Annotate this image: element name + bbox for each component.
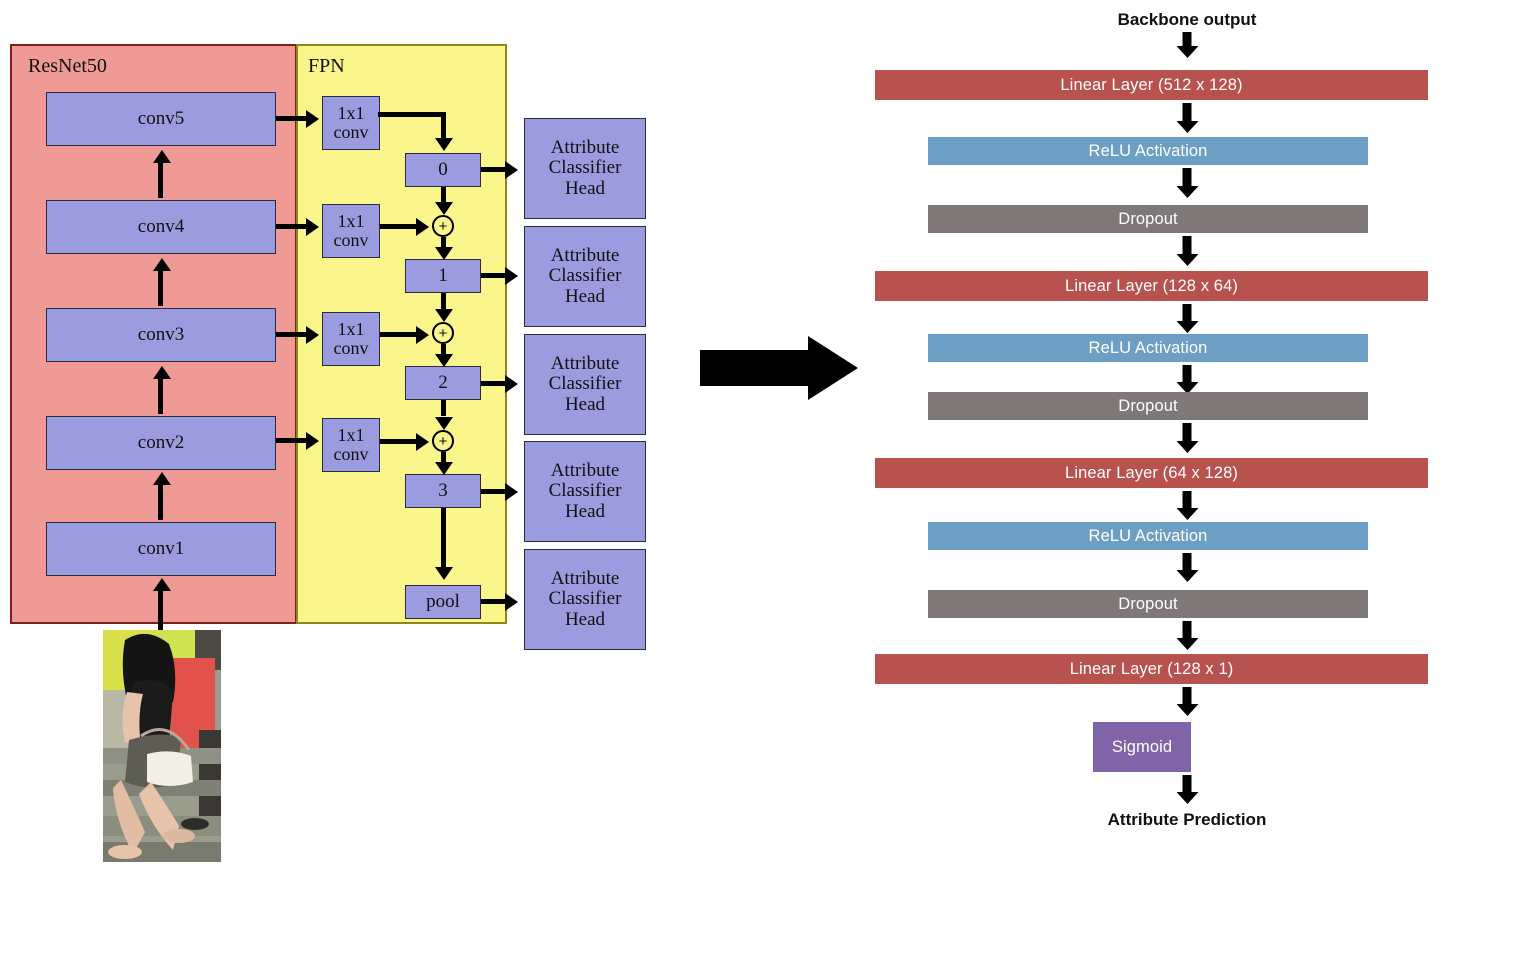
lateral-conv-line1: 1x1 — [338, 320, 365, 339]
arrow-level2-to-head2-head — [505, 375, 518, 393]
attribute-classifier-head-3: Attribute Classifier Head — [524, 441, 646, 542]
conv-block-conv4: conv4 — [46, 200, 276, 254]
fpn-level-2: 2 — [405, 366, 481, 400]
arrow-level3-to-pool-shaft — [441, 508, 446, 568]
arrow-level1-to-head1-head — [505, 267, 518, 285]
ach-line2: Classifier — [549, 266, 622, 287]
arrow-level3-to-head3-shaft — [481, 489, 507, 494]
layer-dropout-2: Dropout — [928, 392, 1368, 420]
lateral-conv-line2: conv — [334, 339, 369, 358]
attribute-prediction-label: Attribute Prediction — [860, 810, 1514, 830]
conv-block-conv2: conv2 — [46, 416, 276, 470]
attribute-classifier-head-1: Attribute Classifier Head — [524, 226, 646, 327]
ach-line1: Attribute — [549, 246, 622, 267]
arrow-level0-to-merge1-shaft — [441, 187, 446, 203]
conv-block-conv5: conv5 — [46, 92, 276, 146]
arrow-conv1-to-conv2-shaft — [158, 482, 163, 520]
arrow-conv2-to-conv3-head — [153, 366, 171, 379]
fpn-level-1: 1 — [405, 259, 481, 293]
arrow-lateral-c5-down-shaft — [441, 112, 446, 139]
input-pedestrian-image — [103, 630, 221, 862]
lateral-1x1-conv-c4: 1x1 conv — [322, 204, 380, 258]
arrow-merge3-to-level3-head — [435, 462, 453, 475]
arrow-level0-to-head0-shaft — [481, 167, 507, 172]
layer-relu-2: ReLU Activation — [928, 334, 1368, 362]
ach-line2: Classifier — [549, 158, 622, 179]
arrow-sigmoid-to-output — [1181, 775, 1194, 804]
arrow-pool-to-head4-head — [505, 593, 518, 611]
lateral-conv-line1: 1x1 — [338, 212, 365, 231]
arrow-relu1-to-dropout1 — [1181, 168, 1194, 198]
arrow-merge2-to-level2-head — [435, 354, 453, 367]
connector-arrow — [700, 336, 858, 400]
arrow-input-to-linear1 — [1181, 32, 1194, 58]
fpn-level-0: 0 — [405, 153, 481, 187]
arrow-image-to-conv1-head — [153, 578, 171, 591]
merge-node-3: + — [432, 430, 454, 452]
arrow-lateral-c4-to-merge1-head — [416, 218, 429, 236]
merge-plus-symbol: + — [439, 434, 448, 449]
arrow-level0-to-head0-head — [505, 161, 518, 179]
ach-line1: Attribute — [549, 138, 622, 159]
arrow-image-to-conv1-shaft — [158, 588, 163, 634]
attribute-classifier-head-2: Attribute Classifier Head — [524, 334, 646, 435]
ach-line2: Classifier — [549, 481, 622, 502]
ach-line1: Attribute — [549, 354, 622, 375]
fpn-level-pool: pool — [405, 585, 481, 619]
right-arrow-icon — [700, 336, 858, 400]
fpn-backbone-diagram: ResNet50 FPN conv5 conv4 conv3 conv2 con… — [0, 0, 680, 900]
arrow-conv2-to-lateral-shaft — [276, 438, 308, 443]
arrow-linear1-to-relu1 — [1181, 103, 1194, 133]
ach-line2: Classifier — [549, 374, 622, 395]
arrow-dropout2-to-linear3 — [1181, 423, 1194, 453]
merge-plus-symbol: + — [439, 219, 448, 234]
arrow-lateral-c2-to-merge3-head — [416, 433, 429, 451]
lateral-1x1-conv-c2: 1x1 conv — [322, 418, 380, 472]
layer-relu-1: ReLU Activation — [928, 137, 1368, 165]
arrow-conv4-to-lateral-shaft — [276, 224, 308, 229]
layer-linear-512x128: Linear Layer (512 x 128) — [875, 70, 1428, 100]
arrow-level3-to-head3-head — [505, 483, 518, 501]
arrow-lateral-c5-down-head — [435, 138, 453, 151]
ach-line3: Head — [549, 287, 622, 308]
layer-linear-64x128: Linear Layer (64 x 128) — [875, 458, 1428, 488]
arrow-level1-to-head1-shaft — [481, 273, 507, 278]
layer-linear-128x1: Linear Layer (128 x 1) — [875, 654, 1428, 684]
layer-sigmoid: Sigmoid — [1093, 722, 1191, 772]
arrow-level2-to-head2-shaft — [481, 381, 507, 386]
merge-node-2: + — [432, 322, 454, 344]
arrow-level0-to-merge1-head — [435, 202, 453, 215]
conv-block-conv3: conv3 — [46, 308, 276, 362]
attribute-classifier-head-4: Attribute Classifier Head — [524, 549, 646, 650]
conv-block-conv1: conv1 — [46, 522, 276, 576]
attribute-classifier-head-detail: Backbone output Linear Layer (512 x 128)… — [860, 0, 1514, 870]
ach-line3: Head — [549, 395, 622, 416]
lateral-conv-line1: 1x1 — [338, 426, 365, 445]
layer-linear-128x64: Linear Layer (128 x 64) — [875, 271, 1428, 301]
arrow-linear3-to-relu3 — [1181, 491, 1194, 520]
layer-dropout-3: Dropout — [928, 590, 1368, 618]
arrow-lateral-c4-to-merge1-shaft — [380, 224, 418, 229]
resnet50-panel-title: ResNet50 — [28, 56, 107, 76]
lateral-conv-line2: conv — [334, 123, 369, 142]
arrow-lateral-c3-to-merge2-head — [416, 326, 429, 344]
arrow-conv5-to-lateral-head — [306, 110, 319, 128]
arrow-conv2-to-lateral-head — [306, 432, 319, 450]
pedestrian-photo-graphic — [103, 630, 221, 862]
arrow-dropout1-to-linear2 — [1181, 236, 1194, 266]
merge-plus-symbol: + — [439, 326, 448, 341]
arrow-relu3-to-dropout3 — [1181, 553, 1194, 582]
lateral-1x1-conv-c5: 1x1 conv — [322, 96, 380, 150]
arrow-merge1-to-level1-head — [435, 247, 453, 260]
merge-node-1: + — [432, 215, 454, 237]
ach-line1: Attribute — [549, 569, 622, 590]
lateral-1x1-conv-c3: 1x1 conv — [322, 312, 380, 366]
arrow-level2-to-merge3-shaft — [441, 400, 446, 416]
fpn-panel-title: FPN — [308, 56, 345, 76]
layer-dropout-1: Dropout — [928, 205, 1368, 233]
arrow-conv4-to-conv5-shaft — [158, 160, 163, 198]
lateral-conv-line2: conv — [334, 445, 369, 464]
arrow-linear2-to-relu2 — [1181, 304, 1194, 333]
ach-line2: Classifier — [549, 589, 622, 610]
arrow-lateral-c3-to-merge2-shaft — [380, 332, 418, 337]
arrow-level1-to-merge2-shaft — [441, 293, 446, 309]
arrow-dropout3-to-linear4 — [1181, 621, 1194, 650]
ach-line3: Head — [549, 502, 622, 523]
ach-line3: Head — [549, 610, 622, 631]
ach-line1: Attribute — [549, 461, 622, 482]
arrow-level3-to-pool-head — [435, 567, 453, 580]
ach-line3: Head — [549, 179, 622, 200]
arrow-conv2-to-conv3-shaft — [158, 376, 163, 414]
attribute-classifier-head-0: Attribute Classifier Head — [524, 118, 646, 219]
arrow-pool-to-head4-shaft — [481, 599, 507, 604]
arrow-conv4-to-conv5-head — [153, 150, 171, 163]
layer-relu-3: ReLU Activation — [928, 522, 1368, 550]
backbone-output-label: Backbone output — [860, 10, 1514, 30]
arrow-level1-to-merge2-head — [435, 309, 453, 322]
arrow-conv3-to-lateral-shaft — [276, 332, 308, 337]
arrow-lateral-c5-right-shaft — [378, 112, 446, 117]
arrow-linear4-to-sigmoid — [1181, 687, 1194, 716]
lateral-conv-line1: 1x1 — [338, 104, 365, 123]
arrow-conv3-to-lateral-head — [306, 326, 319, 344]
arrow-conv3-to-conv4-shaft — [158, 268, 163, 306]
arrow-lateral-c2-to-merge3-shaft — [380, 439, 418, 444]
lateral-conv-line2: conv — [334, 231, 369, 250]
arrow-conv3-to-conv4-head — [153, 258, 171, 271]
arrow-conv1-to-conv2-head — [153, 472, 171, 485]
arrow-relu2-to-dropout2 — [1181, 365, 1194, 394]
arrow-conv4-to-lateral-head — [306, 218, 319, 236]
arrow-level2-to-merge3-head — [435, 417, 453, 430]
arrow-conv5-to-lateral-shaft — [276, 116, 308, 121]
fpn-level-3: 3 — [405, 474, 481, 508]
